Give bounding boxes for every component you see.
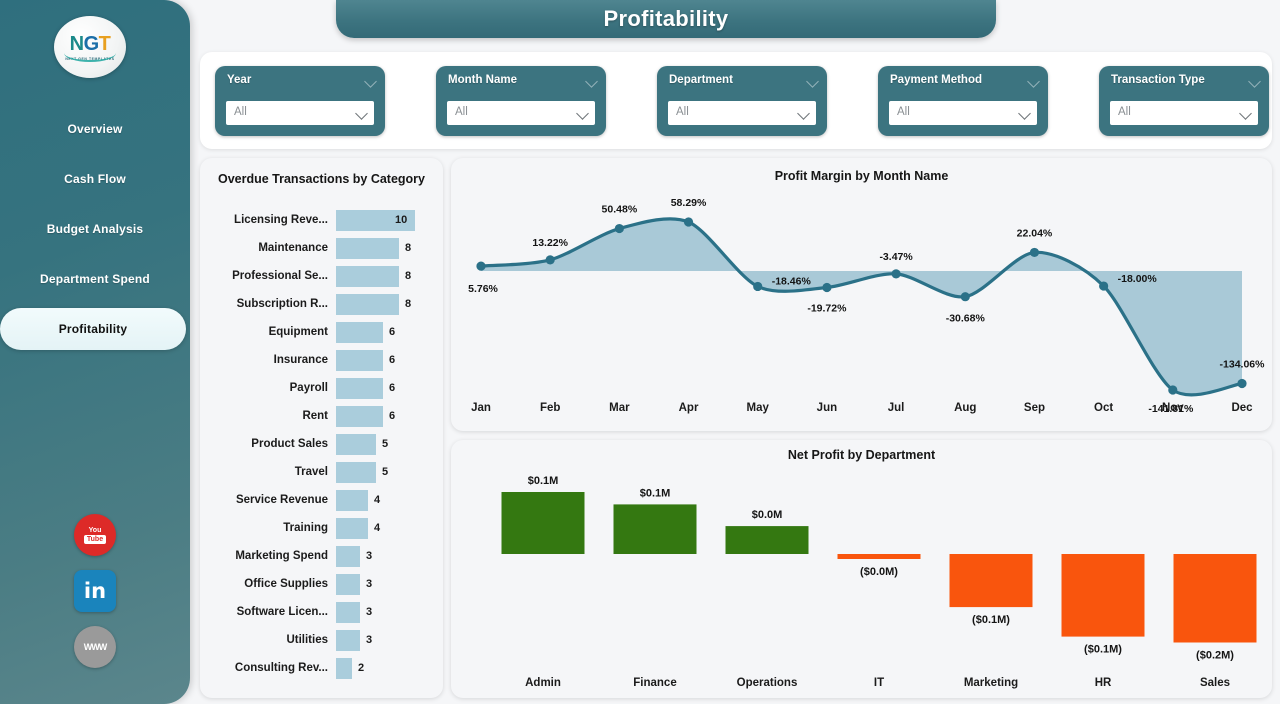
chevron-down-icon (806, 75, 819, 88)
ngt-logo: NGT NEXT GEN TEMPLATES (54, 16, 126, 78)
overdue-category-bar (336, 322, 383, 343)
profit-margin-axis-label: Nov (1162, 402, 1184, 414)
profit-margin-axis-label: Mar (609, 402, 630, 414)
logo-letter-n: N (70, 33, 84, 55)
linkedin-icon[interactable]: in (74, 570, 116, 612)
profit-margin-area (481, 219, 1242, 395)
filter-bar: YearAllMonth NameAllDepartmentAllPayment… (200, 52, 1272, 149)
net-profit-bar[interactable] (726, 526, 809, 554)
chevron-down-icon (576, 107, 589, 120)
profit-margin-data-label: -30.68% (946, 313, 986, 325)
slicer-month-name-label: Month Name (448, 74, 584, 86)
sidebar-social-links: You Tube in WWW (0, 500, 190, 682)
overdue-category-value: 6 (389, 410, 395, 422)
overdue-category-row[interactable]: Utilities3 (200, 626, 443, 654)
overdue-category-value: 6 (389, 382, 395, 394)
chevron-down-icon (1027, 75, 1040, 88)
sidebar-item-overview[interactable]: Overview (0, 108, 190, 150)
slicer-year-label: Year (227, 74, 363, 86)
profit-margin-card: Profit Margin by Month Name 5.76%13.22%5… (451, 158, 1272, 431)
overdue-category-row[interactable]: Training4 (200, 514, 443, 542)
net-profit-axis-label: Admin (525, 677, 561, 689)
profit-margin-axis-label: May (747, 402, 770, 414)
overdue-category-row[interactable]: Marketing Spend3 (200, 542, 443, 570)
chevron-down-icon (364, 75, 377, 88)
slicer-month-name[interactable]: Month NameAll (436, 66, 606, 136)
linkedin-glyph: in (84, 581, 106, 601)
slicer-department-label: Department (669, 74, 805, 86)
logo-swoosh-icon (64, 53, 116, 62)
website-glyph: WWW (84, 642, 106, 652)
overdue-category-bar (336, 518, 368, 539)
chevron-down-icon (1239, 107, 1252, 120)
profit-margin-chart[interactable]: 5.76%13.22%50.48%58.29%-18.46%-19.72%-3.… (451, 158, 1272, 431)
net-profit-axis-label: Operations (737, 677, 798, 689)
slicer-payment-method-value: All (897, 106, 910, 118)
profit-margin-axis-label: Oct (1094, 402, 1113, 414)
slicer-payment-method-label: Payment Method (890, 74, 1026, 86)
overdue-category-bar (336, 658, 352, 679)
profit-margin-data-label: 58.29% (671, 197, 707, 209)
overdue-category-row[interactable]: Insurance6 (200, 346, 443, 374)
overdue-category-label: Service Revenue (210, 494, 328, 506)
logo-text: NGT (70, 34, 111, 54)
profit-margin-axis-label: Apr (679, 402, 699, 414)
youtube-box-text: Tube (84, 535, 106, 544)
overdue-category-label: Utilities (210, 634, 328, 646)
profit-margin-data-point[interactable] (476, 262, 485, 271)
overdue-category-row[interactable]: Rent6 (200, 402, 443, 430)
net-profit-bar-label: ($0.1M) (972, 614, 1010, 626)
slicer-transaction-type-value: All (1118, 106, 1131, 118)
profit-margin-axis-label: Feb (540, 402, 560, 414)
overdue-category-value: 3 (366, 634, 372, 646)
net-profit-bar[interactable] (502, 492, 585, 554)
net-profit-axis-label: IT (874, 677, 884, 689)
overdue-category-value: 6 (389, 326, 395, 338)
net-profit-bar[interactable] (950, 554, 1033, 607)
overdue-category-value: 2 (358, 662, 364, 674)
overdue-category-value: 5 (382, 466, 388, 478)
overdue-category-label: Insurance (210, 354, 328, 366)
net-profit-axis-label: Finance (633, 677, 676, 689)
overdue-category-row[interactable]: Service Revenue4 (200, 486, 443, 514)
sidebar-item-cash-flow[interactable]: Cash Flow (0, 158, 190, 200)
overdue-category-bar (336, 462, 376, 483)
overdue-category-label: Rent (210, 410, 328, 422)
slicer-year[interactable]: YearAll (215, 66, 385, 136)
sidebar-nav: Overview Cash Flow Budget Analysis Depar… (0, 100, 190, 358)
sidebar: NGT NEXT GEN TEMPLATES Overview Cash Flo… (0, 0, 190, 704)
overdue-category-list: Licensing Reve...10Maintenance8Professio… (200, 206, 443, 682)
net-profit-chart[interactable]: $0.1MAdmin$0.1MFinance$0.0MOperations($0… (451, 440, 1272, 698)
overdue-category-bar (336, 546, 360, 567)
overdue-category-bar (336, 630, 360, 651)
overdue-category-row[interactable]: Product Sales5 (200, 430, 443, 458)
overdue-category-row[interactable]: Office Supplies3 (200, 570, 443, 598)
net-profit-axis-label: Sales (1200, 677, 1230, 689)
profit-margin-axis-label: Sep (1024, 402, 1045, 414)
overdue-category-label: Marketing Spend (210, 550, 328, 562)
profit-margin-data-point[interactable] (684, 217, 693, 226)
overdue-category-value: 4 (374, 522, 380, 534)
slicer-month-name-value: All (455, 106, 468, 118)
profit-margin-data-point[interactable] (1099, 281, 1108, 290)
overdue-category-bar (336, 574, 360, 595)
overdue-category-row[interactable]: Payroll6 (200, 374, 443, 402)
profit-margin-data-label: -134.06% (1220, 358, 1266, 370)
overdue-category-bar (336, 294, 399, 315)
profit-margin-data-label: -18.00% (1118, 273, 1158, 285)
logo-letter-g: G (84, 33, 99, 55)
logo-letter-t: T (99, 33, 111, 55)
overdue-category-label: Maintenance (210, 242, 328, 254)
overdue-category-row[interactable]: Software Licen...3 (200, 598, 443, 626)
chevron-down-icon (797, 107, 810, 120)
slicer-year-value: All (234, 106, 247, 118)
profit-margin-data-label: -19.72% (807, 302, 847, 314)
slicer-transaction-type[interactable]: Transaction TypeAll (1099, 66, 1269, 136)
overdue-category-label: Subscription R... (210, 298, 328, 310)
chevron-down-icon (1018, 107, 1031, 120)
slicer-year-dropdown[interactable]: All (226, 101, 374, 125)
profit-margin-axis-label: Dec (1231, 402, 1253, 414)
slicer-department-dropdown[interactable]: All (668, 101, 816, 125)
overdue-category-value: 10 (395, 214, 407, 226)
overdue-category-value: 4 (374, 494, 380, 506)
net-profit-chart-title: Net Profit by Department (451, 448, 1272, 462)
overdue-category-bar (336, 434, 376, 455)
overdue-category-value: 3 (366, 550, 372, 562)
page-title-banner: Profitability (336, 0, 996, 38)
net-profit-bar[interactable] (614, 504, 697, 554)
chevron-down-icon (355, 107, 368, 120)
net-profit-bar-label: $0.0M (752, 509, 783, 521)
overdue-category-row[interactable]: Travel5 (200, 458, 443, 486)
overdue-category-label: Professional Se... (210, 270, 328, 282)
overdue-category-bar (336, 490, 368, 511)
slicer-payment-method[interactable]: Payment MethodAll (878, 66, 1048, 136)
overdue-category-bar (336, 602, 360, 623)
page-title: Profitability (604, 6, 729, 32)
overdue-category-row[interactable]: Subscription R...8 (200, 290, 443, 318)
net-profit-bar-label: ($0.1M) (1084, 644, 1122, 656)
overdue-category-label: Office Supplies (210, 578, 328, 590)
overdue-category-bar (336, 238, 399, 259)
profit-margin-data-point[interactable] (1168, 385, 1177, 394)
overdue-category-row[interactable]: Licensing Reve...10 (200, 206, 443, 234)
profit-margin-data-label: 22.04% (1017, 227, 1053, 239)
net-profit-axis-label: HR (1095, 677, 1112, 689)
sidebar-item-budget-analysis[interactable]: Budget Analysis (0, 208, 190, 250)
profit-margin-axis-label: Aug (954, 402, 976, 414)
overdue-category-label: Consulting Rev... (210, 662, 328, 674)
net-profit-card: Net Profit by Department $0.1MAdmin$0.1M… (451, 440, 1272, 698)
website-icon[interactable]: WWW (74, 626, 116, 668)
overdue-category-label: Training (210, 522, 328, 534)
profit-margin-axis-label: Jan (471, 402, 491, 414)
profit-margin-data-label: 13.22% (532, 237, 568, 249)
sidebar-item-profitability[interactable]: Profitability (0, 308, 186, 350)
net-profit-bar[interactable] (1062, 554, 1145, 637)
slicer-department-value: All (676, 106, 689, 118)
net-profit-bar-label: ($0.2M) (1196, 650, 1234, 662)
profit-margin-data-label: -18.46% (772, 275, 812, 287)
overdue-category-row[interactable]: Professional Se...8 (200, 262, 443, 290)
overdue-category-value: 8 (405, 298, 411, 310)
profit-margin-data-point[interactable] (891, 269, 900, 278)
overdue-transactions-card: Overdue Transactions by Category Licensi… (200, 158, 443, 698)
net-profit-bar-label: $0.1M (528, 475, 559, 487)
overdue-category-label: Payroll (210, 382, 328, 394)
profit-margin-data-point[interactable] (822, 283, 831, 292)
overdue-category-label: Equipment (210, 326, 328, 338)
overdue-category-value: 8 (405, 270, 411, 282)
sidebar-item-department-spend[interactable]: Department Spend (0, 258, 190, 300)
overdue-category-bar (336, 406, 383, 427)
slicer-transaction-type-dropdown[interactable]: All (1110, 101, 1258, 125)
dashboard-page: NGT NEXT GEN TEMPLATES Overview Cash Flo… (0, 0, 1280, 704)
chevron-down-icon (585, 75, 598, 88)
profit-margin-data-point[interactable] (1030, 248, 1039, 257)
net-profit-bar[interactable] (1174, 554, 1257, 643)
overdue-category-value: 5 (382, 438, 388, 450)
net-profit-bar-label: ($0.0M) (860, 566, 898, 578)
overdue-category-value: 3 (366, 578, 372, 590)
profit-margin-data-point[interactable] (753, 282, 762, 291)
profit-margin-data-point[interactable] (1237, 379, 1246, 388)
youtube-icon[interactable]: You Tube (74, 514, 116, 556)
net-profit-axis-label: Marketing (964, 677, 1018, 689)
overdue-category-bar (336, 266, 399, 287)
overdue-category-row[interactable]: Consulting Rev...2 (200, 654, 443, 682)
profit-margin-data-point[interactable] (615, 224, 624, 233)
slicer-month-name-dropdown[interactable]: All (447, 101, 595, 125)
overdue-category-label: Product Sales (210, 438, 328, 450)
youtube-top-text: You (89, 527, 102, 535)
profit-margin-chart-title: Profit Margin by Month Name (451, 169, 1272, 183)
net-profit-bar[interactable] (838, 554, 921, 559)
profit-margin-data-point[interactable] (961, 292, 970, 301)
profit-margin-data-label: -3.47% (879, 251, 913, 263)
overdue-chart-title: Overdue Transactions by Category (200, 172, 443, 186)
overdue-category-value: 8 (405, 242, 411, 254)
overdue-category-value: 3 (366, 606, 372, 618)
slicer-department[interactable]: DepartmentAll (657, 66, 827, 136)
overdue-category-label: Licensing Reve... (210, 214, 328, 226)
overdue-category-label: Travel (210, 466, 328, 478)
profit-margin-axis-label: Jul (888, 402, 905, 414)
profit-margin-data-label: 5.76% (468, 283, 498, 295)
overdue-category-bar (336, 350, 383, 371)
slicer-transaction-type-label: Transaction Type (1111, 74, 1247, 86)
overdue-category-row[interactable]: Equipment6 (200, 318, 443, 346)
profit-margin-axis-label: Jun (817, 402, 837, 414)
net-profit-bar-label: $0.1M (640, 487, 671, 499)
overdue-category-row[interactable]: Maintenance8 (200, 234, 443, 262)
chevron-down-icon (1248, 75, 1261, 88)
overdue-category-label: Software Licen... (210, 606, 328, 618)
overdue-category-value: 6 (389, 354, 395, 366)
profit-margin-data-label: 50.48% (602, 204, 638, 216)
slicer-payment-method-dropdown[interactable]: All (889, 101, 1037, 125)
overdue-category-bar (336, 378, 383, 399)
profit-margin-data-point[interactable] (546, 255, 555, 264)
